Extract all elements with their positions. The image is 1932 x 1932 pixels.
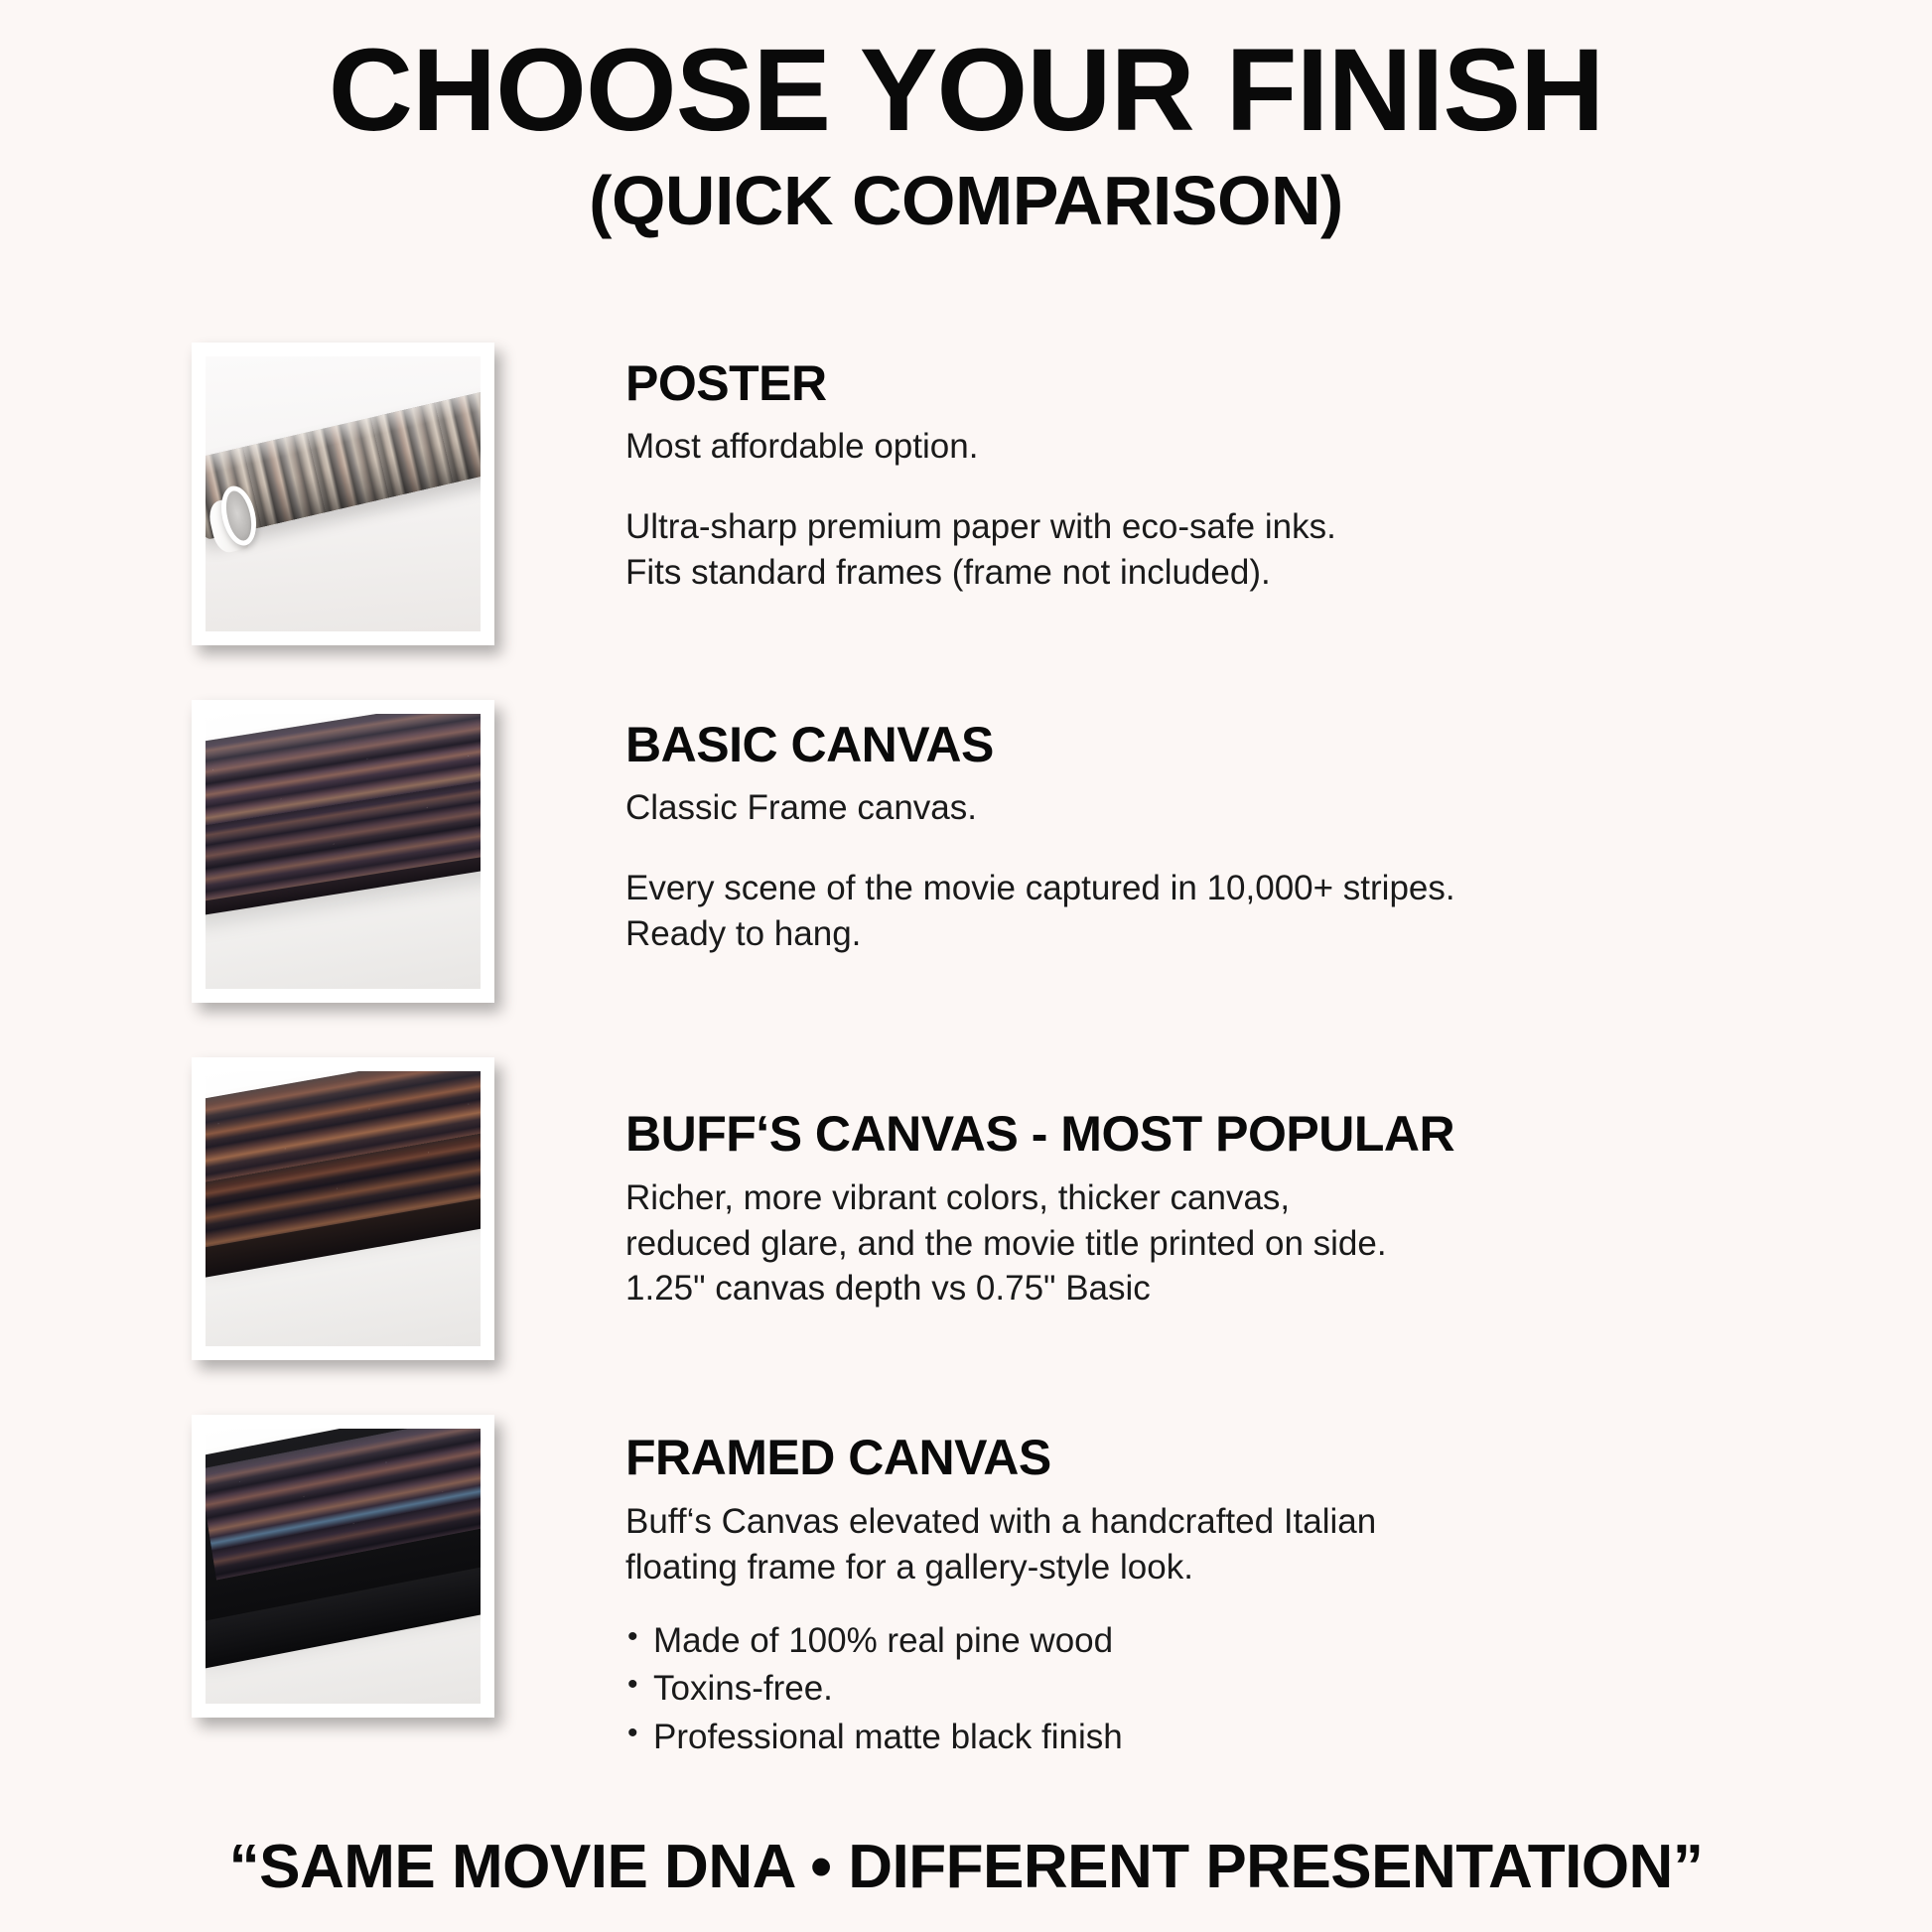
buffs-canvas-detail-line: reduced glare, and the movie title print…	[625, 1221, 1847, 1267]
basic-canvas-product-image	[206, 714, 481, 989]
finish-option-framed-canvas[interactable]: FRAMED CANVAS Buff‘s Canvas elevated wit…	[0, 1415, 1932, 1772]
poster-detail-line: Fits standard frames (frame not included…	[625, 550, 1847, 596]
framed-canvas-feature-list: Made of 100% real pine wood Toxins-free.…	[625, 1617, 1847, 1761]
finish-option-poster[interactable]: POSTER Most affordable option. Ultra-sha…	[0, 343, 1932, 700]
framed-canvas-detail: Buff‘s Canvas elevated with a handcrafte…	[625, 1499, 1847, 1589]
framed-canvas-texture	[206, 1429, 481, 1581]
basic-canvas-lead: Classic Frame canvas.	[625, 786, 1847, 830]
finish-option-basic-canvas[interactable]: BASIC CANVAS Classic Frame canvas. Every…	[0, 700, 1932, 1057]
poster-detail: Ultra-sharp premium paper with eco-safe …	[625, 504, 1847, 595]
framed-canvas-product-image	[206, 1429, 481, 1704]
framed-canvas-inner-art	[206, 1429, 481, 1581]
poster-image-card[interactable]	[192, 343, 494, 645]
list-item: Toxins-free.	[625, 1665, 1847, 1713]
basic-canvas-text-block: BASIC CANVAS Classic Frame canvas. Every…	[625, 718, 1847, 956]
poster-text-block: POSTER Most affordable option. Ultra-sha…	[625, 356, 1847, 595]
buffs-canvas-detail: Richer, more vibrant colors, thicker can…	[625, 1175, 1847, 1311]
basic-canvas-image-card[interactable]	[192, 700, 494, 1003]
poster-detail-line: Ultra-sharp premium paper with eco-safe …	[625, 504, 1847, 550]
framed-canvas-detail-line: Buff‘s Canvas elevated with a handcrafte…	[625, 1499, 1847, 1545]
framed-canvas-detail-line: floating frame for a gallery-style look.	[625, 1545, 1847, 1590]
framed-canvas-title: FRAMED CANVAS	[625, 1431, 1847, 1485]
footer-tagline: “SAME MOVIE DNA • DIFFERENT PRESENTATION…	[0, 1832, 1932, 1902]
basic-canvas-title: BASIC CANVAS	[625, 718, 1847, 772]
buffs-canvas-product-image	[206, 1071, 481, 1346]
buffs-canvas-title: BUFF‘S CANVAS - MOST POPULAR	[625, 1107, 1847, 1162]
buffs-canvas-text-block: BUFF‘S CANVAS - MOST POPULAR Richer, mor…	[625, 1107, 1847, 1311]
buffs-canvas-detail-line: Richer, more vibrant colors, thicker can…	[625, 1175, 1847, 1221]
poster-lead: Most affordable option.	[625, 425, 1847, 469]
poster-product-image	[206, 356, 481, 631]
basic-canvas-detail: Every scene of the movie captured in 10,…	[625, 866, 1847, 956]
poster-title: POSTER	[625, 356, 1847, 411]
list-item: Made of 100% real pine wood	[625, 1617, 1847, 1665]
basic-canvas-detail-line: Every scene of the movie captured in 10,…	[625, 866, 1847, 911]
page-header: CHOOSE YOUR FINISH (QUICK COMPARISON)	[0, 0, 1932, 239]
page-title: CHOOSE YOUR FINISH	[0, 30, 1932, 153]
buffs-canvas-image-card[interactable]	[192, 1057, 494, 1360]
finish-options-list: POSTER Most affordable option. Ultra-sha…	[0, 343, 1932, 1772]
finish-option-buffs-canvas[interactable]: BUFF‘S CANVAS - MOST POPULAR Richer, mor…	[0, 1057, 1932, 1415]
buffs-canvas-detail-line: 1.25" canvas depth vs 0.75" Basic	[625, 1266, 1847, 1311]
framed-canvas-image-card[interactable]	[192, 1415, 494, 1718]
framed-canvas-text-block: FRAMED CANVAS Buff‘s Canvas elevated wit…	[625, 1431, 1847, 1761]
list-item: Professional matte black finish	[625, 1714, 1847, 1761]
basic-canvas-detail-line: Ready to hang.	[625, 911, 1847, 957]
page-subtitle: (QUICK COMPARISON)	[0, 163, 1932, 239]
